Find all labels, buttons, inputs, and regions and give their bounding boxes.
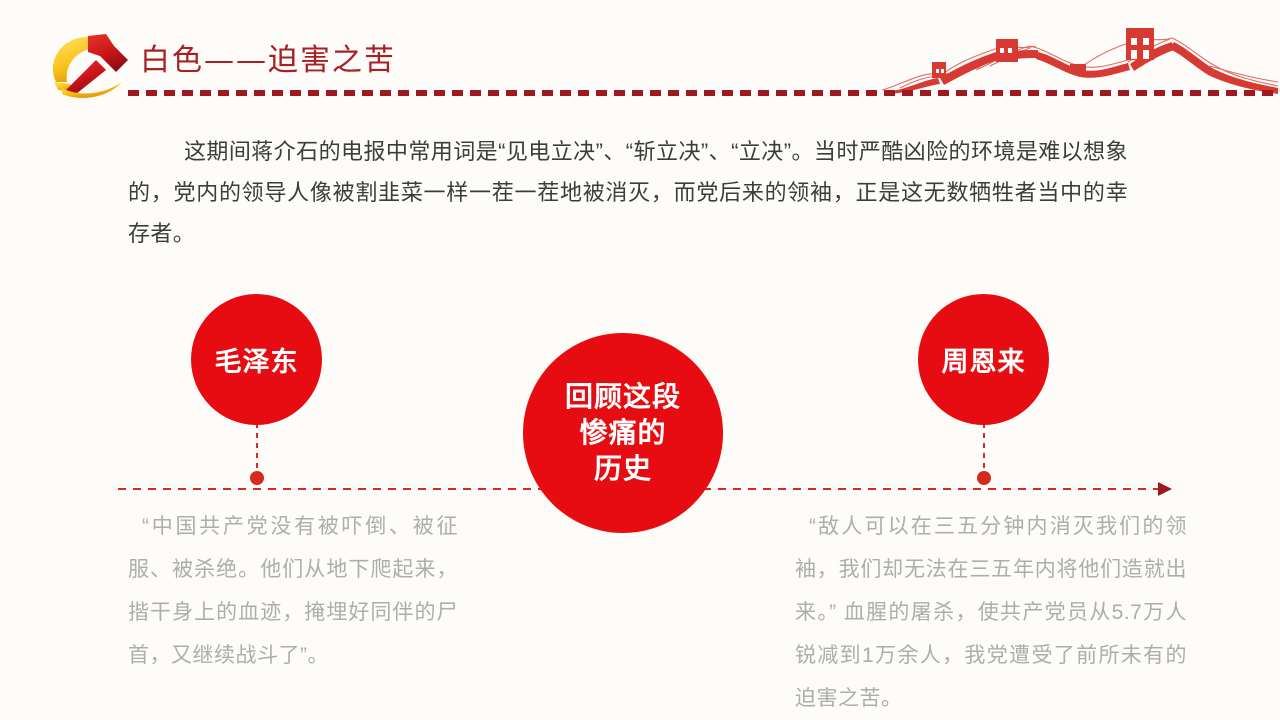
center-badge-text: 回顾这段 惨痛的 历史 [565,379,681,487]
timeline-node-mao[interactable]: 毛泽东 [191,294,322,425]
timeline-node-mao-label: 毛泽东 [215,340,299,379]
quote-zhou: “敌人可以在三五分钟内消灭我们的领袖，我们却无法在三五年内将他们造就出来。” 血… [795,505,1187,720]
connector-line-zhou [983,423,985,475]
slide-header: 白色——迫害之苦 [0,0,1280,110]
timeline-dot-zhou [977,471,991,485]
timeline-arrow-icon [1158,482,1172,496]
quote-mao: “中国共产党没有被吓倒、被征服、被杀绝。他们从地下爬起来，揩干身上的血迹，掩埋好… [128,505,458,677]
page-title: 白色——迫害之苦 [140,40,396,82]
great-wall-illustration [880,6,1280,94]
center-badge-line-2: 惨痛的 [565,415,681,451]
center-badge-line-3: 历史 [565,451,681,487]
center-badge-line-1: 回顾这段 [565,379,681,415]
connector-line-mao [256,423,258,475]
slide-root: 白色——迫害之苦 [0,0,1280,720]
center-badge[interactable]: 回顾这段 惨痛的 历史 [523,333,723,533]
timeline-node-zhou-label: 周恩来 [942,340,1026,379]
intro-paragraph: 这期间蒋介石的电报中常用词是“见电立决”、“斩立决”、“立决”。当时严酷凶险的环… [128,131,1128,254]
timeline-node-zhou[interactable]: 周恩来 [918,294,1049,425]
header-divider [128,90,1280,96]
timeline-dot-mao [250,471,264,485]
